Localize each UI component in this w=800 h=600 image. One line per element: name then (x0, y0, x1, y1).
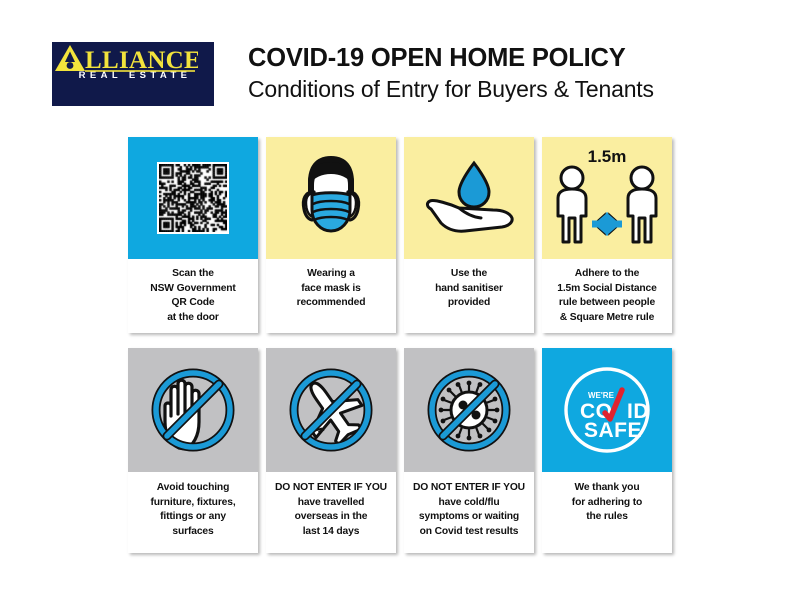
caption-line: Avoid touching (133, 481, 253, 496)
card-no-travel: DO NOT ENTER IF YOU have travelled overs… (266, 348, 396, 553)
caption-line: DO NOT ENTER IF YOU (271, 481, 391, 496)
caption-line: face mask is (271, 282, 391, 297)
page-subtitle: Conditions of Entry for Buyers & Tenants (248, 75, 748, 104)
caption-line: have travelled (271, 496, 391, 511)
caption-line: for adhering to (547, 496, 667, 511)
caption-line: overseas in the (271, 510, 391, 525)
caption-line: the rules (547, 510, 667, 525)
caption-line: hand sanitiser (409, 282, 529, 297)
card-caption: We thank you for adhering to the rules (542, 472, 672, 553)
caption-line: fittings or any (133, 510, 253, 525)
qr-code-icon (157, 162, 229, 234)
card-hand-sanitiser: Use the hand sanitiser provided (404, 137, 534, 333)
card-caption: Wearing a face mask is recommended (266, 259, 396, 333)
caption-line: Use the (409, 267, 529, 282)
card-caption: Avoid touching furniture, fixtures, fitt… (128, 472, 258, 553)
caption-line: & Square Metre rule (547, 311, 667, 326)
caption-line: We thank you (547, 481, 667, 496)
card-icon-area: WE'RE COVID SAFE (542, 348, 672, 472)
caption-line: furniture, fixtures, (133, 496, 253, 511)
caption-line: QR Code (133, 296, 253, 311)
svg-text:LLIANCE: LLIANCE (85, 47, 198, 74)
card-face-mask: Wearing a face mask is recommended (266, 137, 396, 333)
card-no-symptoms: DO NOT ENTER IF YOU have cold/flu sympto… (404, 348, 534, 553)
card-icon-area (128, 137, 258, 259)
alliance-logo: LLIANCE REAL ESTATE (52, 42, 214, 106)
card-icon-area (128, 348, 258, 472)
card-caption: Use the hand sanitiser provided (404, 259, 534, 333)
title-block: COVID-19 OPEN HOME POLICY Conditions of … (248, 44, 748, 104)
caption-line: at the door (133, 311, 253, 326)
no-virus-symptoms-icon (419, 360, 519, 460)
card-no-touching: Avoid touching furniture, fixtures, fitt… (128, 348, 258, 553)
card-row-2: Avoid touching furniture, fixtures, fitt… (128, 348, 672, 553)
card-caption: DO NOT ENTER IF YOU have travelled overs… (266, 472, 396, 553)
card-social-distance: 1.5m Adhere to the 1.5m Social Distance (542, 137, 672, 333)
card-icon-area (266, 137, 396, 259)
caption-line: symptoms or waiting (409, 510, 529, 525)
page-title: COVID-19 OPEN HOME POLICY (248, 44, 748, 73)
caption-line: Scan the (133, 267, 253, 282)
card-caption: Adhere to the 1.5m Social Distance rule … (542, 259, 672, 333)
card-qr-code: Scan the NSW Government QR Code at the d… (128, 137, 258, 333)
card-covid-safe: WE'RE COVID SAFE We thank you for adheri… (542, 348, 672, 553)
card-caption: DO NOT ENTER IF YOU have cold/flu sympto… (404, 472, 534, 553)
social-distance-icon: 1.5m (548, 144, 666, 252)
caption-line: DO NOT ENTER IF YOU (409, 481, 529, 496)
caption-line: Wearing a (271, 267, 391, 282)
caption-line: provided (409, 296, 529, 311)
no-touching-hand-icon (143, 360, 243, 460)
caption-line: 1.5m Social Distance (547, 282, 667, 297)
caption-line: last 14 days (271, 525, 391, 540)
caption-line: surfaces (133, 525, 253, 540)
distance-label: 1.5m (588, 147, 627, 166)
card-icon-area (404, 348, 534, 472)
covid-policy-poster: LLIANCE REAL ESTATE COVID-19 OPEN HOME P… (0, 0, 800, 600)
no-travel-airplane-icon (281, 360, 381, 460)
hand-sanitiser-icon (417, 155, 521, 241)
caption-line: recommended (271, 296, 391, 311)
logo-alliance-wordmark: LLIANCE (52, 42, 198, 74)
caption-line: rule between people (547, 296, 667, 311)
caption-line: NSW Government (133, 282, 253, 297)
card-icon-area (404, 137, 534, 259)
face-mask-icon (291, 152, 371, 244)
card-icon-area: 1.5m (542, 137, 672, 259)
badge-safe-text: SAFE (584, 419, 642, 442)
poster-header: LLIANCE REAL ESTATE COVID-19 OPEN HOME P… (0, 0, 800, 128)
covid-safe-badge-icon: WE'RE COVID SAFE (558, 361, 656, 459)
card-icon-area (266, 348, 396, 472)
caption-line: have cold/flu (409, 496, 529, 511)
qr-code-canvas (159, 164, 227, 232)
card-caption: Scan the NSW Government QR Code at the d… (128, 259, 258, 333)
caption-line: Adhere to the (547, 267, 667, 282)
badge-were-text: WE'RE (588, 391, 615, 400)
card-row-1: Scan the NSW Government QR Code at the d… (128, 137, 672, 333)
caption-line: on Covid test results (409, 525, 529, 540)
